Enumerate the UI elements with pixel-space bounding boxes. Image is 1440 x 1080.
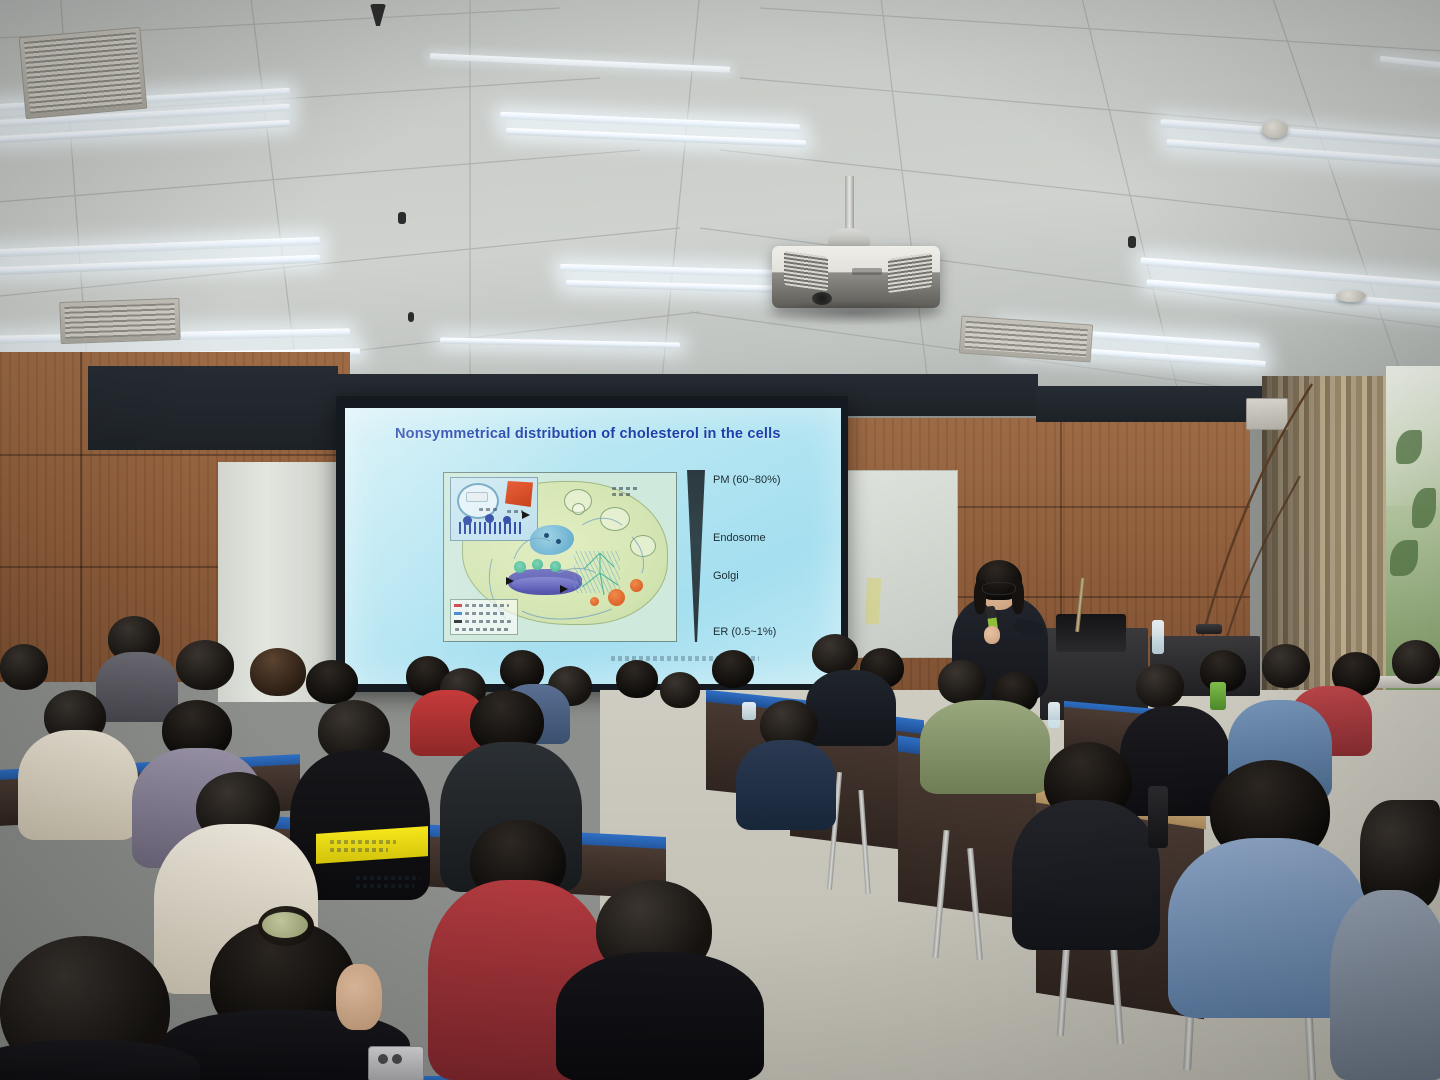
ceiling-hook [1128, 236, 1136, 248]
water-bottle [1048, 702, 1060, 728]
shirt-print-text [356, 884, 414, 888]
audience-body [96, 652, 178, 722]
audience-body [920, 700, 1050, 794]
water-bottle [1152, 620, 1164, 654]
audience-head [176, 640, 234, 690]
shirt-graphic-text [330, 848, 388, 852]
ceiling-speaker [1336, 290, 1366, 302]
ceiling-hook [398, 212, 406, 224]
audience-body [556, 952, 764, 1080]
ceiling-hook [408, 312, 414, 322]
audience-body [806, 670, 896, 746]
thermos [1148, 786, 1168, 848]
audience-body [736, 740, 836, 830]
air-vent [59, 298, 180, 344]
paper-cup [742, 702, 756, 720]
projector-brand-mark [852, 268, 882, 275]
phone-camera [392, 1054, 402, 1064]
audience-head [1262, 644, 1310, 688]
audience-hand [336, 964, 382, 1030]
audience-head [938, 660, 986, 704]
projection-screen[interactable]: Nonsymmetrical distribution of cholester… [345, 408, 841, 684]
presenter-glasses [982, 582, 1016, 595]
projector-shadow [760, 300, 950, 326]
audience-head [0, 644, 48, 690]
air-vent [19, 27, 148, 119]
audience-head [660, 672, 700, 708]
whiteboard-marking [865, 578, 881, 625]
wall-seam [80, 352, 82, 682]
audience-head [616, 660, 658, 698]
presenter-hand [984, 626, 1000, 644]
audience-head [712, 650, 754, 688]
shirt-graphic-text [330, 840, 396, 844]
audience-head [1392, 640, 1440, 684]
audience-body [18, 730, 138, 840]
hair-scrunchie [262, 912, 308, 938]
podium-monitor [1056, 614, 1126, 652]
green-bottle [1210, 682, 1226, 710]
lecture-hall-photo: Nonsymmetrical distribution of cholester… [0, 0, 1440, 1080]
shirt-print-text [356, 876, 420, 880]
projector-vent [888, 253, 932, 293]
audience-body [1012, 800, 1160, 950]
phone-camera [378, 1054, 388, 1064]
wall-cable [1180, 380, 1320, 680]
screen-glare [345, 408, 841, 684]
wall-seam [0, 454, 350, 456]
smoke-detector [1262, 120, 1288, 138]
audience-head [1136, 664, 1184, 708]
desk-lamp [1196, 624, 1222, 634]
wall-upper-band [88, 366, 338, 450]
audience-body [1330, 890, 1440, 1080]
projector-vent [784, 251, 828, 291]
audience-head [250, 648, 306, 696]
audience-head [306, 660, 358, 704]
audience-head [812, 634, 858, 674]
